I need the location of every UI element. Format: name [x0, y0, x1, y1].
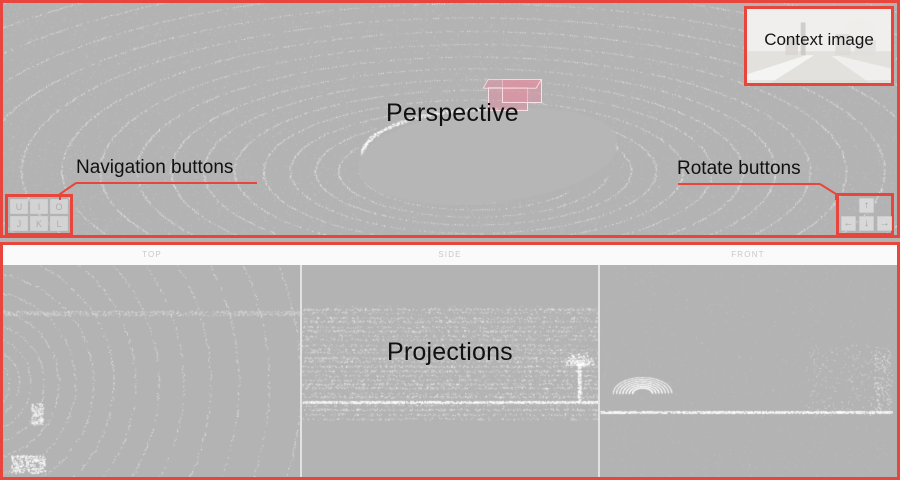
- box-face-top: [482, 79, 542, 89]
- projection-view-front[interactable]: [600, 265, 893, 477]
- perspective-label: Perspective: [386, 99, 519, 128]
- nav-key-k[interactable]: K: [30, 216, 48, 231]
- projection-view-side[interactable]: [300, 265, 600, 477]
- rotate-buttons-callout: Rotate buttons: [677, 158, 801, 180]
- lidar-point-cloud-top: [3, 265, 300, 477]
- rotate-left-icon[interactable]: ←: [841, 216, 856, 231]
- projection-header-side: SIDE: [301, 245, 599, 265]
- nav-key-j[interactable]: J: [10, 216, 28, 231]
- projection-headers: TOP SIDE FRONT: [3, 245, 897, 265]
- annotation-tool-window: Perspective Context image U I O J K L ↑ …: [0, 0, 900, 480]
- projection-header-top: TOP: [3, 245, 301, 265]
- projections-container: [3, 265, 897, 477]
- projection-header-front: FRONT: [599, 245, 897, 265]
- navigation-buttons-callout: Navigation buttons: [76, 157, 233, 179]
- rotate-down-icon[interactable]: ↓: [859, 216, 874, 231]
- rotate-right-icon[interactable]: →: [877, 216, 892, 231]
- context-image-label: Context image: [747, 30, 891, 50]
- context-image-panel[interactable]: Context image: [744, 6, 894, 86]
- projections-label: Projections: [387, 338, 513, 367]
- projection-view-top[interactable]: [3, 265, 300, 477]
- lidar-point-cloud-side: [302, 265, 598, 477]
- nav-key-l[interactable]: L: [50, 216, 68, 231]
- lidar-point-cloud-front: [600, 265, 893, 477]
